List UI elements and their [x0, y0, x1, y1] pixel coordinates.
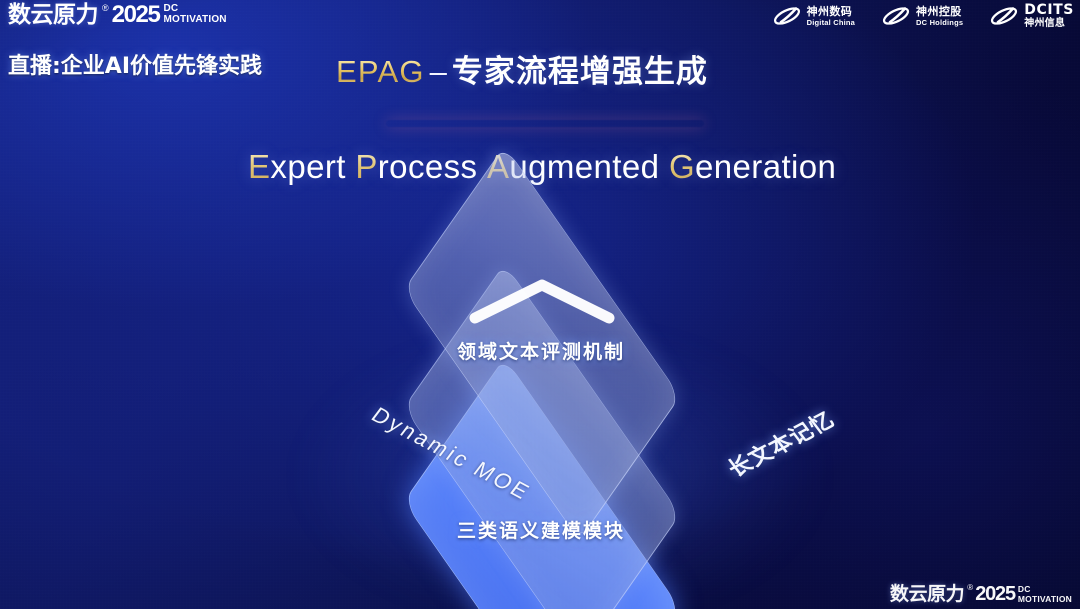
partner-text: 神州控股 DC Holdings — [916, 6, 963, 27]
partner-text: 神州数码 Digital China — [807, 6, 855, 27]
brand-dc-text: DC — [163, 4, 226, 14]
partner-name-cn: 神州信息 — [1024, 19, 1074, 29]
brand-year: 2025 — [975, 583, 1015, 605]
partner-name-en: DC Holdings — [916, 19, 963, 27]
registered-mark-icon: ® — [102, 2, 109, 14]
swirl-logo-icon — [772, 3, 802, 29]
brand-dc-motivation: DC MOTIVATION — [1018, 585, 1072, 603]
brand-dc-motivation: DC MOTIVATION — [163, 4, 226, 25]
brand-logo-bottom-right: 数云原力 ® 2025 DC MOTIVATION — [890, 583, 1072, 605]
isometric-layer-stack: 领域文本评测机制 Dynamic MOE 长文本记忆 三类语义建模模块 — [286, 232, 796, 572]
brand-logo-top-left: 数云原力 ® 2025 DC MOTIVATION — [8, 2, 227, 28]
subtitle-cap-e: E — [248, 148, 270, 185]
brand-name-cn: 数云原力 — [8, 2, 98, 28]
gradient-divider — [386, 120, 704, 127]
partner-logo-digital-china: 神州数码 Digital China — [772, 3, 855, 29]
subtitle-rest-augmented: ugmented — [509, 148, 659, 185]
brand-name-cn: 数云原力 — [890, 583, 964, 605]
headline-dash: – — [425, 54, 452, 89]
swirl-logo-icon — [989, 3, 1019, 29]
subtitle-cap-p: P — [355, 148, 377, 185]
partner-name-cn: 神州控股 — [916, 6, 963, 17]
partner-name-en: Digital China — [807, 19, 855, 27]
brand-motivation-text: MOTIVATION — [163, 15, 226, 25]
partner-name-en-dcits: DCITS — [1024, 3, 1074, 17]
partner-name-cn: 神州数码 — [807, 6, 855, 17]
partner-text: DCITS 神州信息 — [1024, 3, 1074, 29]
brand-dc-text: DC — [1018, 585, 1072, 594]
subtitle-rest-process: rocess — [378, 148, 478, 185]
swirl-logo-icon — [881, 3, 911, 29]
partner-logo-dcits: DCITS 神州信息 — [989, 3, 1074, 29]
live-broadcast-title: 直播:企业AI价值先锋实践 — [8, 48, 262, 80]
partner-logo-row: 神州数码 Digital China 神州控股 DC Holdings DCIT… — [772, 3, 1074, 29]
slide-headline: EPAG–专家流程增强生成 — [336, 52, 708, 98]
brand-motivation-text: MOTIVATION — [1018, 595, 1072, 604]
registered-mark-icon: ® — [967, 583, 973, 593]
subtitle-rest-expert: xpert — [270, 148, 345, 185]
slide-subtitle: Expert Process Augmented Generation — [248, 148, 836, 186]
subtitle-rest-generation: eneration — [695, 148, 836, 185]
partner-logo-dc-holdings: 神州控股 DC Holdings — [881, 3, 963, 29]
subtitle-cap-g: G — [669, 148, 695, 185]
slide-canvas: 数云原力 ® 2025 DC MOTIVATION 直播:企业AI价值先锋实践 … — [0, 0, 1080, 609]
headline-title-cn: 专家流程增强生成 — [452, 54, 708, 90]
brand-year: 2025 — [112, 2, 160, 28]
headline-acronym: EPAG — [336, 54, 425, 89]
